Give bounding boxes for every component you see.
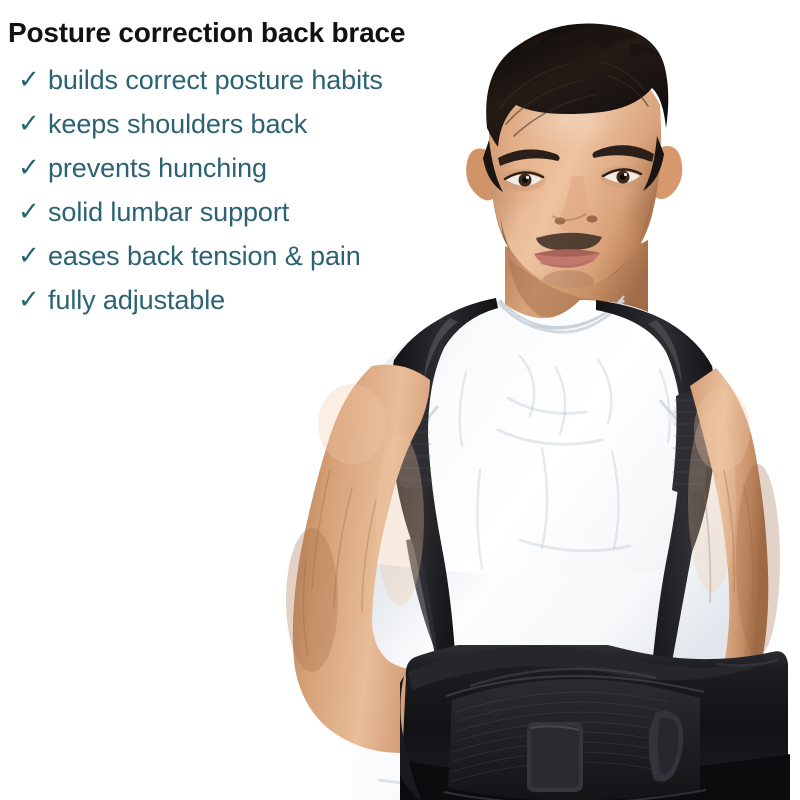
- benefit-label: fully adjustable: [48, 285, 225, 315]
- list-item: ✓ solid lumbar support: [18, 190, 478, 234]
- benefit-label: solid lumbar support: [48, 197, 289, 227]
- list-item: ✓ eases back tension & pain: [18, 234, 478, 278]
- benefit-label: keeps shoulders back: [48, 109, 307, 139]
- list-item: ✓ fully adjustable: [18, 278, 478, 322]
- benefit-label: eases back tension & pain: [48, 241, 361, 271]
- check-icon: ✓: [18, 110, 48, 136]
- benefit-label: builds correct posture habits: [48, 65, 383, 95]
- benefit-label: prevents hunching: [48, 153, 267, 183]
- marketing-copy: Posture correction back brace ✓ builds c…: [0, 0, 480, 330]
- check-icon: ✓: [18, 154, 48, 180]
- list-item: ✓ keeps shoulders back: [18, 102, 478, 146]
- list-item: ✓ builds correct posture habits: [18, 58, 478, 102]
- product-marketing-image: Posture correction back brace ✓ builds c…: [0, 0, 800, 800]
- check-icon: ✓: [18, 198, 48, 224]
- check-icon: ✓: [18, 242, 48, 268]
- lumbar-belt: [391, 637, 790, 800]
- page-title: Posture correction back brace: [8, 16, 405, 50]
- check-icon: ✓: [18, 286, 48, 312]
- list-item: ✓ prevents hunching: [18, 146, 478, 190]
- benefits-list: ✓ builds correct posture habits ✓ keeps …: [18, 58, 478, 322]
- check-icon: ✓: [18, 66, 48, 92]
